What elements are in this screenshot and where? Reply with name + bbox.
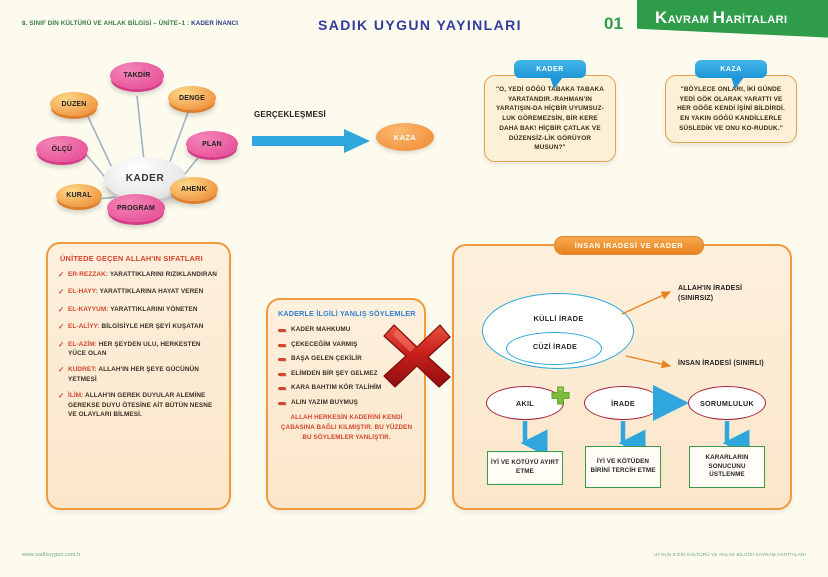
header-banner-title: KAVRAM HARİTALARI bbox=[655, 8, 787, 28]
kader-concept-bubble-map: KADER TAKDİR DENGE PLAN AHENK PROGRAM KU… bbox=[34, 52, 254, 227]
wrong-saying-text: ALIN YAZIM BUYMUŞ bbox=[291, 399, 358, 406]
attribute-name: EL-ALİYY: bbox=[68, 323, 100, 330]
unit-breadcrumb-prefix: 8. SINIF DİN KÜLTÜRÜ VE AHLAK BİLGİSİ – … bbox=[22, 20, 191, 27]
attribute-name: EL-AZİM: bbox=[68, 341, 97, 348]
attribute-desc: ALLAH'IN GEREK DUYULAR ALEMİNE GEREKSE D… bbox=[68, 392, 212, 418]
quote-tab-tail-kaza bbox=[731, 77, 744, 89]
attribute-text: KUDRET: ALLAH'IN HER ŞEYE GÜCÜNÜN YETMES… bbox=[68, 365, 220, 384]
wrong-saying-text: ÇEKECEĞİM VARMIŞ bbox=[291, 341, 357, 348]
banner-k-letter: K bbox=[655, 8, 668, 27]
poster-page: 8. SINIF DİN KÜLTÜRÜ VE AHLAK BİLGİSİ – … bbox=[0, 0, 828, 577]
attribute-name: KUDRET: bbox=[68, 366, 97, 373]
attribute-desc: YARATTIKLARINI YÖNETEN bbox=[109, 306, 198, 313]
allah-will-line2: (SINIRSIZ) bbox=[678, 294, 742, 304]
attribute-text: ER-REZZAK: YARATTIKLARINI RIZIKLANDIRAN bbox=[68, 270, 217, 281]
red-x-mark-icon bbox=[381, 321, 453, 389]
attribute-text: EL-HAYY: YARATTIKLARINA HAYAT VEREN bbox=[68, 287, 203, 298]
quote-tab-kaza: KAZA bbox=[695, 60, 767, 78]
attribute-item: ✓ İLİM: ALLAH'IN GEREK DUYULAR ALEMİNE G… bbox=[58, 391, 220, 420]
quote-tab-kader: KADER bbox=[514, 60, 586, 78]
attribute-item: ✓ EL-KAYYUM: YARATTIKLARINI YÖNETEN bbox=[58, 305, 220, 316]
unit-breadcrumb: 8. SINIF DİN KÜLTÜRÜ VE AHLAK BİLGİSİ – … bbox=[22, 20, 238, 27]
bubble-takdir: TAKDİR bbox=[110, 62, 164, 89]
wrong-sayings-note: ALLAH HERKESİN KADERİNİ KENDİ ÇABASINA B… bbox=[277, 413, 416, 444]
banner-h-letter: H bbox=[713, 8, 726, 27]
check-icon: ✓ bbox=[58, 270, 68, 281]
attribute-text: EL-ALİYY: BİLGİSİYLE HER ŞEYİ KUŞATAN bbox=[68, 322, 203, 333]
kaza-result-ellipse: KAZA bbox=[376, 123, 434, 151]
attribute-item: ✓ EL-ALİYY: BİLGİSİYLE HER ŞEYİ KUŞATAN bbox=[58, 322, 220, 333]
allah-attributes-panel: ÜNİTEDE GEÇEN ALLAH'IN SIFATLARI ✓ ER-RE… bbox=[46, 242, 231, 510]
quote-tab-tail-kader bbox=[550, 77, 563, 89]
publisher-title: SADIK UYGUN YAYINLARI bbox=[318, 17, 522, 33]
dash-bullet-icon bbox=[278, 358, 286, 361]
attribute-desc: BİLGİSİYLE HER ŞEYİ KUŞATAN bbox=[100, 323, 204, 330]
quote-card-kaza: KAZA "BÖYLECE ONLARI, İKİ GÜNDE YEDİ GÖK… bbox=[665, 60, 797, 143]
wrong-saying-text: KARA BAHTIM KÖR TALİHİM bbox=[291, 384, 381, 391]
attributes-panel-title: ÜNİTEDE GEÇEN ALLAH'IN SIFATLARI bbox=[58, 254, 220, 263]
bubble-plan: PLAN bbox=[186, 131, 238, 157]
human-will-label: İNSAN İRADESİ (SINIRLI) bbox=[678, 359, 764, 369]
gerceklesmesi-label: GERÇEKLEŞMESİ bbox=[254, 110, 326, 119]
banner-avram-text: AVRAM bbox=[668, 14, 713, 26]
attribute-text: İLİM: ALLAH'IN GEREK DUYULAR ALEMİNE GER… bbox=[68, 391, 220, 420]
wrong-saying-text: KADER MAHKUMU bbox=[291, 326, 351, 333]
attribute-text: EL-KAYYUM: YARATTIKLARINI YÖNETEN bbox=[68, 305, 198, 316]
attribute-desc: YARATTIKLARINA HAYAT VEREN bbox=[98, 288, 203, 295]
attribute-item: ✓ EL-HAYY: YARATTIKLARINA HAYAT VEREN bbox=[58, 287, 220, 298]
attribute-item: ✓ ER-REZZAK: YARATTIKLARINI RIZIKLANDIRA… bbox=[58, 270, 220, 281]
footer-credit: UYGUN 8 DİN KÜLTÜRÜ VE AHLAK BİLGİSİ KAV… bbox=[654, 552, 806, 557]
dash-bullet-icon bbox=[278, 344, 286, 347]
dash-bullet-icon bbox=[278, 387, 286, 390]
bubble-denge: DENGE bbox=[168, 86, 216, 110]
banner-aritalari-text: ARİTALARI bbox=[725, 14, 787, 26]
dash-bullet-icon bbox=[278, 373, 286, 376]
check-icon: ✓ bbox=[58, 340, 68, 359]
attribute-text: EL-AZİM: HER ŞEYDEN ULU, HERKESTEN YÜCE … bbox=[68, 340, 220, 359]
bubble-olcu: ÖLÇÜ bbox=[36, 136, 88, 162]
bubble-ahenk: AHENK bbox=[170, 177, 218, 201]
wrong-sayings-title: KADERLE İLGİLİ YANLIŞ SÖYLEMLER bbox=[277, 309, 416, 318]
attribute-name: EL-HAYY: bbox=[68, 288, 98, 295]
transition-arrow-icon bbox=[252, 128, 374, 154]
allah-will-label: ALLAH'IN İRADESİ (SINIRSIZ) bbox=[678, 284, 742, 305]
quote-card-kader: KADER "O, YEDİ GÖĞÜ TABAKA TABAKA YARATA… bbox=[484, 60, 616, 162]
bubble-kural: KURAL bbox=[56, 184, 102, 207]
check-icon: ✓ bbox=[58, 287, 68, 298]
attribute-name: EL-KAYYUM: bbox=[68, 306, 109, 313]
wrong-saying-item: ALIN YAZIM BUYMUŞ bbox=[277, 399, 416, 406]
attribute-name: ER-REZZAK: bbox=[68, 271, 108, 278]
flow-box-ayirt-etme: İYİ VE KÖTÜYÜ AYIRT ETME bbox=[487, 451, 563, 485]
bubble-duzen: DÜZEN bbox=[50, 92, 98, 116]
wrong-saying-text: ELİMDEN BİR ŞEY GELMEZ bbox=[291, 370, 378, 377]
dash-bullet-icon bbox=[278, 402, 286, 405]
allah-will-line1: ALLAH'IN İRADESİ bbox=[678, 284, 742, 294]
attribute-item: ✓ KUDRET: ALLAH'IN HER ŞEYE GÜCÜNÜN YETM… bbox=[58, 365, 220, 384]
attribute-item: ✓ EL-AZİM: HER ŞEYDEN ULU, HERKESTEN YÜC… bbox=[58, 340, 220, 359]
check-icon: ✓ bbox=[58, 391, 68, 420]
dash-bullet-icon bbox=[278, 329, 286, 332]
map-number: 01 bbox=[604, 14, 623, 34]
footer-website[interactable]: www.sadikuygun.com.tr bbox=[22, 552, 81, 558]
attribute-name: İLİM: bbox=[68, 392, 83, 399]
page-header: 8. SINIF DİN KÜLTÜRÜ VE AHLAK BİLGİSİ – … bbox=[0, 0, 828, 42]
check-icon: ✓ bbox=[58, 365, 68, 384]
wrong-saying-text: BAŞA GELEN ÇEKİLİR bbox=[291, 355, 362, 362]
attribute-desc: YARATTIKLARINI RIZIKLANDIRAN bbox=[108, 271, 217, 278]
check-icon: ✓ bbox=[58, 305, 68, 316]
flow-box-ustlenme: KARARLARIN SONUCUNU ÜSTLENME bbox=[689, 446, 765, 488]
kulli-irade-label: KÜLLİ İRADE bbox=[506, 314, 611, 323]
human-will-badge: İNSAN İRADESİ VE KADER bbox=[554, 236, 704, 255]
unit-breadcrumb-topic: KADER İNANCI bbox=[191, 20, 238, 27]
flow-box-tercih-etme: İYİ VE KÖTÜDEN BİRİNİ TERCİH ETME bbox=[585, 446, 661, 488]
check-icon: ✓ bbox=[58, 322, 68, 333]
plus-icon bbox=[551, 386, 570, 405]
cuzi-irade-label: CÜZİ İRADE bbox=[511, 342, 599, 351]
bubble-program: PROGRAM bbox=[107, 194, 165, 222]
human-will-panel: İNSAN İRADESİ VE KADER KÜLLİ İRADE CÜZİ … bbox=[452, 244, 792, 510]
